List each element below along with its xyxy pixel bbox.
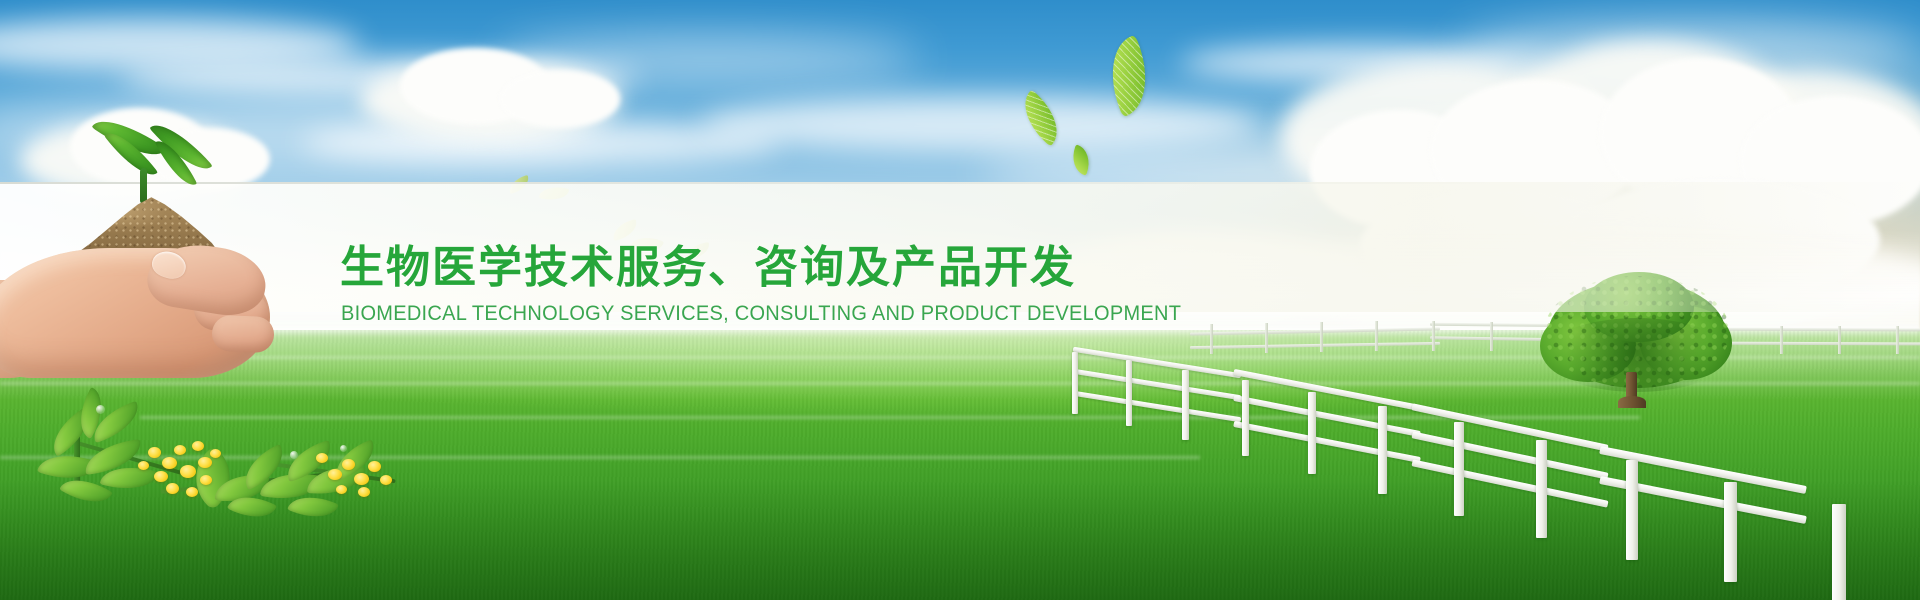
fence-post — [1265, 323, 1268, 353]
fence-post — [1896, 326, 1899, 354]
yellow-flower — [358, 487, 370, 497]
yellow-flower — [316, 453, 328, 463]
yellow-flower — [174, 445, 186, 455]
yellow-flower — [380, 475, 392, 485]
fence-post — [1536, 440, 1547, 538]
fence-rail — [1190, 327, 1440, 335]
fence-post — [1724, 482, 1737, 582]
yellow-flower — [198, 457, 212, 468]
fence-post — [1832, 504, 1846, 600]
fence-post — [1432, 321, 1435, 351]
fence-post — [1242, 380, 1249, 456]
tree-canopy-shade — [1544, 318, 1730, 392]
fence-rail — [1190, 342, 1440, 349]
finger — [211, 315, 274, 353]
yellow-flower — [180, 465, 196, 478]
yellow-flower — [138, 461, 149, 470]
yellow-flower — [210, 449, 221, 458]
cloud — [500, 70, 620, 128]
yellow-flower — [200, 475, 212, 485]
fence-post — [1320, 322, 1323, 352]
fence-post — [1210, 324, 1213, 354]
fence-post — [1378, 406, 1387, 494]
fence-post — [1454, 422, 1464, 516]
yellow-flower — [148, 447, 161, 458]
hand-with-sprout — [0, 140, 300, 400]
tree-root-flare — [1618, 396, 1646, 408]
dew-drop — [340, 445, 347, 452]
yellow-flower — [354, 473, 369, 485]
page-title: 生物医学技术服务、咨询及产品开发 — [340, 246, 1076, 290]
yellow-flower — [166, 483, 179, 494]
yellow-flower — [328, 469, 342, 480]
hero-banner: 生物医学技术服务、咨询及产品开发 BIOMEDICAL TECHNOLOGY S… — [0, 0, 1920, 600]
fence-post — [1375, 321, 1378, 351]
page-subtitle: BIOMEDICAL TECHNOLOGY SERVICES, CONSULTI… — [341, 303, 1181, 325]
fence-post — [1072, 352, 1078, 414]
fence-post — [1780, 326, 1783, 354]
yellow-flower — [342, 459, 355, 470]
yellow-flower — [186, 487, 198, 497]
yellow-flower — [162, 457, 177, 469]
fence-post — [1308, 392, 1316, 474]
fence-post — [1490, 322, 1493, 351]
sprout-stem — [140, 168, 147, 204]
yellow-flower — [154, 471, 168, 482]
fence-post — [1626, 460, 1638, 560]
yellow-flower — [336, 485, 347, 494]
yellow-flower — [368, 461, 381, 472]
dew-drop — [96, 405, 105, 414]
fence-post — [1838, 326, 1841, 354]
yellow-flower — [192, 441, 204, 451]
fence-post — [1126, 360, 1132, 426]
foreground-plants — [40, 395, 400, 600]
fence-post — [1182, 370, 1189, 440]
fence — [1050, 318, 1920, 518]
dew-drop — [290, 451, 298, 459]
